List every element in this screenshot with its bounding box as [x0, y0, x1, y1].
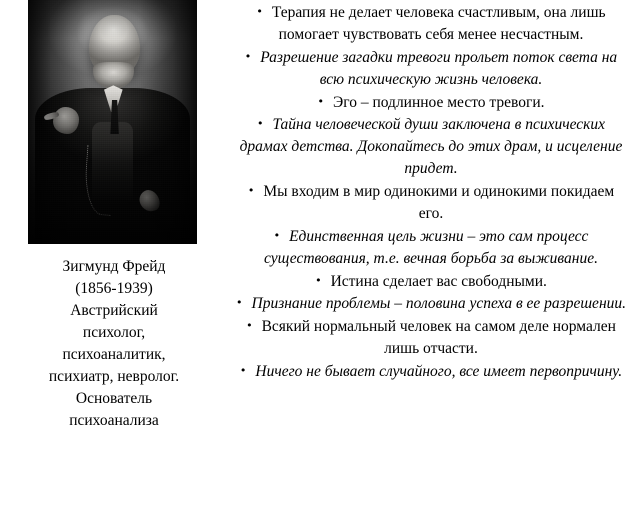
caption-line: психиатр, невролог.	[14, 366, 214, 388]
quote-item: •Единственная цель жизни – это сам проце…	[236, 225, 626, 270]
quote-text: Мы входим в мир одинокими и одинокими по…	[263, 183, 614, 222]
quote-item: •Терапия не делает человека счастливым, …	[236, 1, 626, 46]
bullet-icon: •	[236, 296, 252, 309]
caption-line: Основатель	[14, 388, 214, 410]
bullet-icon: •	[246, 319, 262, 332]
quote-item: •Тайна человеческой души заключена в пси…	[236, 113, 626, 180]
quote-item: •Истина сделает вас свободными.	[236, 270, 626, 293]
quote-text: Эго – подлинное место тревоги.	[333, 93, 544, 110]
caption-line: Зигмунд Фрейд	[14, 256, 214, 278]
quote-text: Единственная цель жизни – это сам процес…	[264, 228, 598, 267]
quote-text: Разрешение загадки тревоги прольет поток…	[260, 49, 617, 88]
bullet-icon: •	[245, 50, 261, 63]
quote-text: Ничего не бывает случайного, все имеет п…	[255, 363, 622, 380]
quote-item: •Мы входим в мир одинокими и одинокими п…	[236, 180, 626, 225]
quote-item: •Ничего не бывает случайного, все имеет …	[236, 360, 626, 383]
quotes-list: •Терапия не делает человека счастливым, …	[236, 1, 626, 383]
quote-item: •Признание проблемы – половина успеха в …	[236, 292, 626, 315]
quote-item: •Всякий нормальный человек на самом деле…	[236, 315, 626, 360]
bullet-icon: •	[315, 274, 331, 287]
quote-text: Терапия не делает человека счастливым, о…	[272, 4, 606, 43]
quote-text: Истина сделает вас свободными.	[331, 272, 547, 289]
slide-page: Зигмунд Фрейд (1856-1939) Австрийский пс…	[0, 0, 630, 512]
caption-line: психоанализа	[14, 410, 214, 432]
bullet-icon: •	[248, 184, 264, 197]
quote-text: Признание проблемы – половина успеха в е…	[252, 295, 627, 312]
bullet-icon: •	[318, 95, 334, 108]
freud-portrait-photo	[28, 0, 197, 244]
quote-item: •Разрешение загадки тревоги прольет пото…	[236, 46, 626, 91]
caption-line: психолог,	[14, 322, 214, 344]
photo-vignette	[28, 0, 197, 244]
caption-line: Австрийский	[14, 300, 214, 322]
caption-line: (1856-1939)	[14, 278, 214, 300]
portrait-caption: Зигмунд Фрейд (1856-1939) Австрийский пс…	[14, 256, 214, 432]
quote-item: •Эго – подлинное место тревоги.	[236, 91, 626, 114]
quote-text: Тайна человеческой души заключена в псих…	[240, 116, 623, 177]
bullet-icon: •	[240, 364, 256, 377]
bullet-icon: •	[256, 5, 272, 18]
left-column: Зигмунд Фрейд (1856-1939) Австрийский пс…	[0, 0, 228, 512]
bullet-icon: •	[257, 117, 273, 130]
caption-line: психоаналитик,	[14, 344, 214, 366]
bullet-icon: •	[274, 229, 290, 242]
quote-text: Всякий нормальный человек на самом деле …	[262, 318, 616, 357]
